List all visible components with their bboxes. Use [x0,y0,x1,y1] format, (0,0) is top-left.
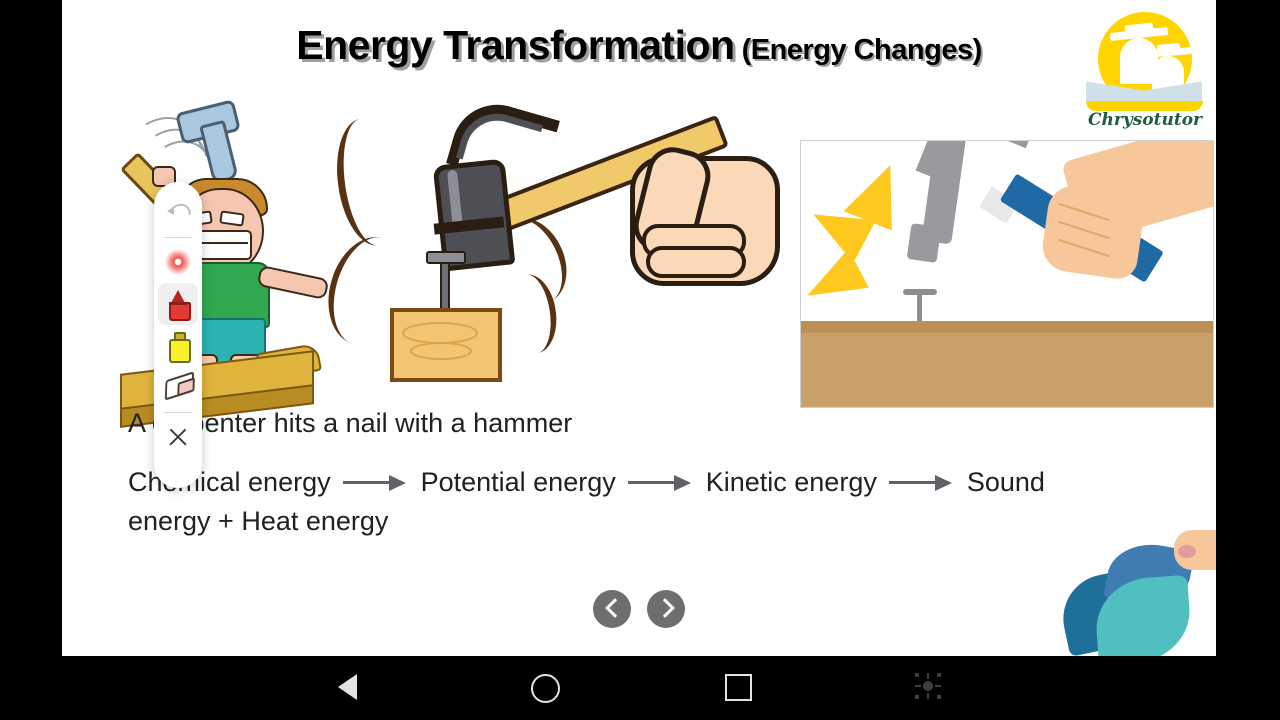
toolbar-divider [164,412,192,413]
wood-grain [410,342,472,360]
annotation-toolbar[interactable] [154,182,202,488]
wood-grain [402,322,478,344]
close-toolbar-button[interactable] [158,416,198,458]
recents-square-icon[interactable] [725,674,752,701]
chevron-left-icon [605,598,625,618]
highlighter-button[interactable] [158,325,198,367]
slide-caption: A carpenter hits a nail with a hammer [128,408,1028,439]
energy-chain: Chemical energy Potential energy Kinetic… [128,460,1168,537]
close-icon [167,426,189,448]
energy-term-sound: Sound [967,467,1045,498]
hammer-striking-face [907,223,942,263]
energy-term-kinetic: Kinetic energy [706,467,877,498]
slide-next-button[interactable] [647,590,685,628]
title-main-text: Energy Transformation [296,22,734,68]
hand-finger [646,246,746,278]
arrow-icon [889,473,955,491]
arrow-icon [343,473,409,491]
back-triangle-icon[interactable] [338,674,357,700]
slide-prev-button[interactable] [593,590,631,628]
impact-line [329,114,409,250]
illustration-flat-hammer-nail-board [800,140,1214,408]
energy-chain-row: Chemical energy Potential energy Kinetic… [128,460,1168,504]
red-pen-button[interactable] [158,283,198,325]
system-navigation-bar [0,656,1280,720]
wooden-board [801,333,1213,408]
slide-navigation [62,590,1216,628]
arrow-icon [628,473,694,491]
impact-ray [800,249,869,315]
home-circle-icon[interactable] [531,674,560,703]
illustration-boy-with-hammer [82,100,322,405]
slide-title: Energy Transformation(Energy Changes) [62,22,1216,69]
toolbar-divider [164,237,192,238]
laser-pointer-button[interactable] [158,241,198,283]
nail-head [426,251,466,264]
brightness-sun-icon[interactable] [912,670,944,702]
eraser-button[interactable] [158,367,198,409]
nail-shaft [917,293,922,323]
illustration-row [62,96,1216,408]
chevron-right-icon [655,598,675,618]
yellow-highlighter-icon [168,332,188,360]
energy-term-potential: Potential energy [421,467,616,498]
fingernail [1178,545,1196,558]
nail-head [903,289,937,295]
title-subtitle-text: (Energy Changes) [742,34,982,66]
energy-chain-second-line: energy + Heat energy [128,506,1168,537]
illustration-hand-hammer-nail [330,96,790,406]
device-screen: Energy Transformation(Energy Changes) Ch… [0,0,1280,720]
board-top-edge [801,321,1213,333]
undo-button[interactable] [158,192,198,234]
laser-pointer-icon [165,249,191,275]
undo-icon [167,204,189,222]
eraser-icon [162,374,194,403]
red-pen-icon [168,290,188,318]
sun-center [923,681,933,691]
slide-content-area: Energy Transformation(Energy Changes) Ch… [62,0,1216,656]
